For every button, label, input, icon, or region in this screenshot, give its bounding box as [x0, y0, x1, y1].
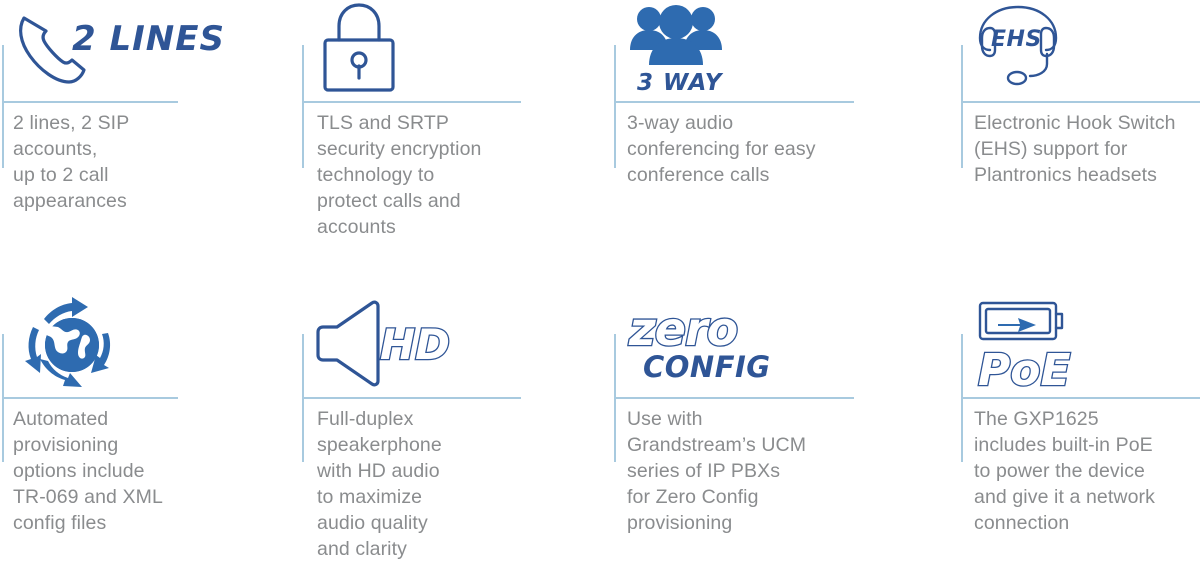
feature-card-three-way: 3 WAY 3-way audio conferencing for easy …: [613, 0, 960, 289]
feature-card-security: TLS and SRTP security encryption technol…: [301, 0, 613, 289]
svg-text:PoE: PoE: [978, 345, 1071, 396]
horizontal-divider: [614, 101, 854, 103]
horizontal-divider: [302, 397, 521, 399]
horizontal-divider: [614, 397, 854, 399]
feature-description: The GXP1625 includes built-in PoE to pow…: [974, 406, 1155, 536]
vertical-rule: [961, 45, 963, 168]
svg-text:3 WAY: 3 WAY: [637, 70, 724, 96]
feature-card-poe: PoE The GXP1625 includes built-in PoE to…: [960, 289, 1200, 577]
horizontal-divider: [2, 101, 178, 103]
feature-card-ehs: EHS Electronic Hook Switch (EHS) support…: [960, 0, 1200, 289]
feature-description: 2 lines, 2 SIP accounts, up to 2 call ap…: [13, 110, 129, 214]
feature-description: Electronic Hook Switch (EHS) support for…: [974, 110, 1176, 188]
svg-text:CONFIG: CONFIG: [643, 350, 771, 384]
zero-config-icon: zero CONFIG: [627, 297, 767, 393]
feature-description: 3-way audio conferencing for easy confer…: [627, 110, 816, 188]
svg-text:EHS: EHS: [991, 27, 1042, 52]
feature-description: Use with Grandstream’s UCM series of IP …: [627, 406, 806, 536]
vertical-rule: [302, 45, 304, 168]
feature-card-zero-config: zero CONFIG Use with Grandstream’s UCM s…: [613, 289, 960, 577]
horizontal-divider: [961, 101, 1200, 103]
phone-handset-icon: 2 LINES: [14, 2, 189, 94]
vertical-rule: [2, 45, 4, 168]
headset-icon: EHS: [974, 2, 1086, 94]
feature-description: Full-duplex speakerphone with HD audio t…: [317, 406, 442, 562]
battery-bolt-poe-icon: PoE: [974, 297, 1094, 393]
globe-sync-icon: [14, 297, 134, 393]
svg-text:HD: HD: [380, 320, 450, 369]
svg-text:zero: zero: [628, 302, 737, 356]
horizontal-divider: [2, 397, 178, 399]
feature-card-two-lines: 2 LINES 2 lines, 2 SIP accounts, up to 2…: [0, 0, 301, 289]
horizontal-divider: [961, 397, 1200, 399]
feature-card-hd-audio: HD Full-duplex speakerphone with HD audi…: [301, 289, 613, 577]
svg-text:2 LINES: 2 LINES: [72, 19, 225, 59]
three-people-icon: 3 WAY: [627, 2, 747, 94]
horizontal-divider: [302, 101, 521, 103]
feature-description: Automated provisioning options include T…: [13, 406, 163, 536]
vertical-rule: [614, 45, 616, 168]
feature-grid: 2 LINES 2 lines, 2 SIP accounts, up to 2…: [0, 0, 1200, 577]
padlock-icon: [317, 2, 417, 94]
feature-card-provisioning: Automated provisioning options include T…: [0, 289, 301, 577]
speaker-hd-icon: HD: [317, 297, 457, 393]
feature-description: TLS and SRTP security encryption technol…: [317, 110, 481, 240]
